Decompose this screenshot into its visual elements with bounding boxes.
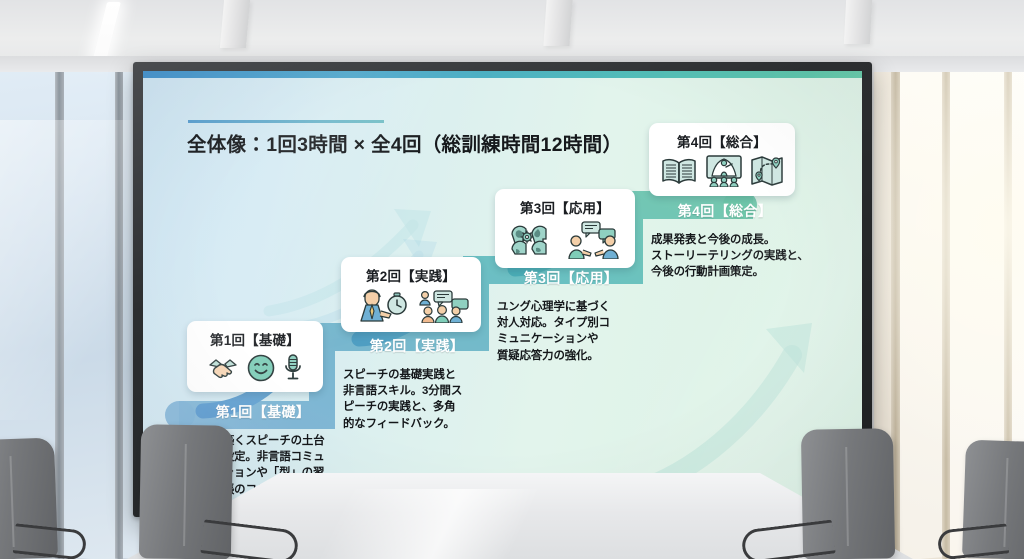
audience-speech-bubbles-icon	[418, 289, 470, 323]
step-2-icons	[353, 289, 470, 323]
step-1-card[interactable]: 第1回【基礎】	[187, 321, 323, 392]
step-4-label: 第4回【総合】	[649, 198, 801, 224]
window-pane-right-1	[898, 60, 942, 559]
roadmap-pins-icon	[750, 155, 784, 187]
step-3-card-title: 第3回【応用】	[520, 197, 610, 217]
step-2-label: 第2回【実践】	[341, 333, 493, 359]
step-4-card-title: 第4回【総合】	[677, 131, 767, 151]
window-mullion-right-2	[942, 38, 950, 559]
psychology-heads-icon	[509, 221, 559, 259]
step-1-card-title: 第1回【基礎】	[210, 329, 300, 349]
ceiling-light-fixture	[93, 2, 121, 58]
step-2-card[interactable]: 第2回【実践】	[341, 257, 481, 332]
smiley-face-icon	[246, 353, 276, 383]
wall-display[interactable]: 全体像：1回3時間 × 全4回（総訓練時間12時間）	[133, 62, 872, 517]
ceiling-beam	[844, 0, 872, 44]
ceiling-beam	[543, 0, 572, 46]
step-3-description: ユング心理学に基づく 対人対応。タイプ別コ ミュニケーションや 質疑応答力の強化…	[497, 299, 657, 364]
step-3-card[interactable]: 第3回【応用】	[495, 189, 635, 268]
chair-seam	[183, 444, 187, 546]
window-pane-left-2	[62, 49, 118, 559]
microphone-icon	[283, 353, 303, 383]
presenter-stopwatch-icon	[353, 289, 411, 323]
step-4-icons	[660, 155, 784, 187]
step-3-label: 第3回【応用】	[495, 265, 647, 291]
step-2-card-title: 第2回【実践】	[366, 265, 456, 285]
chair-seam	[845, 447, 849, 546]
window-mullion-left-1	[55, 29, 64, 559]
step-4-description: 成果発表と今後の成長。 ストーリーテリングの実践と、 今後の行動計画策定。	[651, 232, 847, 281]
presentation-audience-icon	[705, 155, 743, 187]
step-1-icons	[207, 353, 303, 383]
step-1-label: 第1回【基礎】	[187, 399, 339, 425]
ceiling-beam	[220, 0, 250, 48]
conference-room-scene: 全体像：1回3時間 × 全4回（総訓練時間12時間）	[0, 0, 1024, 559]
two-people-dialog-icon	[566, 221, 622, 259]
step-4-card[interactable]: 第4回【総合】	[649, 123, 795, 196]
handshake-icon	[207, 354, 239, 382]
step-2-description: スピーチの基礎実践と 非言語スキル。3分間ス ピーチの実践と、多角 的なフィード…	[343, 367, 503, 432]
open-book-icon	[660, 156, 698, 186]
step-3-icons	[509, 221, 622, 259]
presentation-slide: 全体像：1回3時間 × 全4回（総訓練時間12時間）	[143, 71, 862, 503]
window-mullion-left-2	[115, 56, 123, 559]
